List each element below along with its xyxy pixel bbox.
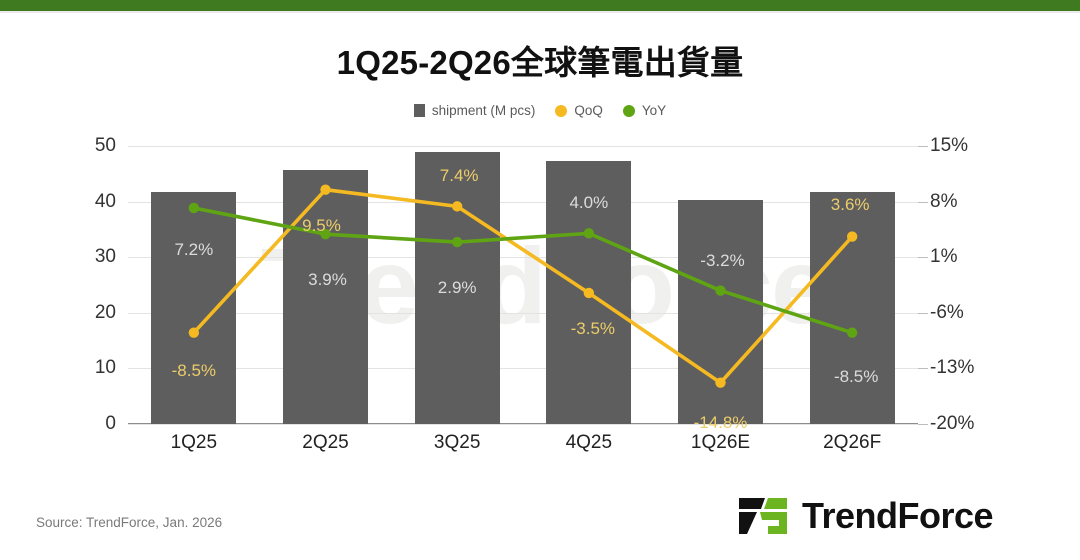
- data-label-yoy-2Q25: 3.9%: [308, 270, 347, 290]
- y-tick-left: 40: [64, 191, 116, 213]
- legend-item-yoy: YoY: [623, 103, 666, 118]
- marker-yoy-1Q26E: [715, 285, 725, 295]
- x-tick-2Q25: 2Q25: [302, 432, 348, 454]
- y-tick-left: 20: [64, 302, 116, 324]
- x-tick-2Q26F: 2Q26F: [823, 432, 881, 454]
- top-green-band: [0, 0, 1080, 11]
- y-tick-right: -13%: [930, 357, 1020, 379]
- y-tick-left: 10: [64, 357, 116, 379]
- page-title: 1Q25-2Q26全球筆電出貨量: [0, 36, 1080, 84]
- y-tick-left: 30: [64, 246, 116, 268]
- marker-qoq-2Q25: [320, 184, 330, 194]
- y-axis-right: -20%-13%-6%1%8%15%: [930, 146, 1020, 424]
- data-label-qoq-3Q25: 7.4%: [440, 166, 479, 186]
- y-tick-right: 1%: [930, 246, 1020, 268]
- data-label-qoq-2Q25: 9.5%: [302, 216, 341, 236]
- gridline: [128, 424, 918, 425]
- marker-yoy-3Q25: [452, 237, 462, 247]
- top-band-shadow: [0, 11, 1080, 13]
- marker-qoq-4Q25: [584, 288, 594, 298]
- y-axis-left: 01020304050: [64, 146, 116, 424]
- x-axis-labels: 1Q252Q253Q254Q251Q26E2Q26F: [128, 432, 918, 462]
- data-label-yoy-1Q25: 7.2%: [174, 240, 213, 260]
- chart-legend: shipment (M pcs) QoQ YoY: [0, 103, 1080, 118]
- trendforce-mark-icon: [735, 494, 791, 538]
- marker-yoy-1Q25: [189, 203, 199, 213]
- line-yoy: [194, 208, 852, 333]
- marker-qoq-3Q25: [452, 201, 462, 211]
- x-tick-1Q25: 1Q25: [171, 432, 217, 454]
- marker-yoy-4Q25: [584, 228, 594, 238]
- data-label-qoq-1Q25: -8.5%: [172, 361, 216, 381]
- data-label-yoy-4Q25: 4.0%: [569, 193, 608, 213]
- x-tick-4Q25: 4Q25: [566, 432, 612, 454]
- y-tick-right: -20%: [930, 413, 1020, 435]
- data-label-yoy-3Q25: 2.9%: [438, 278, 477, 298]
- trendforce-wordmark: TrendForce: [802, 495, 993, 537]
- chart-page: 1Q25-2Q26全球筆電出貨量 shipment (M pcs) QoQ Yo…: [0, 0, 1080, 560]
- data-label-qoq-2Q26F: 3.6%: [831, 195, 870, 215]
- plot-area: -8.5%9.5%7.4%-3.5%-14.8%3.6%7.2%3.9%2.9%…: [128, 146, 918, 424]
- y-tick-right: -6%: [930, 302, 1020, 324]
- y-tick-right: 8%: [930, 191, 1020, 213]
- line-overlay: [128, 146, 918, 424]
- x-tick-1Q26E: 1Q26E: [691, 432, 750, 454]
- trendforce-logo: TrendForce: [735, 494, 993, 538]
- source-note: Source: TrendForce, Jan. 2026: [36, 515, 222, 530]
- y-tick-left: 0: [64, 413, 116, 435]
- legend-swatch-yoy-icon: [623, 105, 635, 117]
- data-label-yoy-2Q26F: -8.5%: [834, 367, 878, 387]
- legend-item-qoq: QoQ: [555, 103, 603, 118]
- y-tick-right: 15%: [930, 135, 1020, 157]
- legend-swatch-bar-icon: [414, 104, 425, 117]
- x-tick-3Q25: 3Q25: [434, 432, 480, 454]
- line-qoq: [194, 190, 852, 383]
- legend-item-shipment: shipment (M pcs): [414, 103, 536, 118]
- data-label-yoy-1Q26E: -3.2%: [700, 251, 744, 271]
- marker-qoq-1Q25: [189, 327, 199, 337]
- marker-yoy-2Q26F: [847, 327, 857, 337]
- marker-qoq-1Q26E: [715, 377, 725, 387]
- legend-label-qoq: QoQ: [574, 103, 603, 118]
- legend-label-shipment: shipment (M pcs): [432, 103, 536, 118]
- legend-label-yoy: YoY: [642, 103, 666, 118]
- data-label-qoq-4Q25: -3.5%: [571, 319, 615, 339]
- marker-qoq-2Q26F: [847, 231, 857, 241]
- legend-swatch-qoq-icon: [555, 105, 567, 117]
- data-label-qoq-1Q26E: -14.8%: [694, 413, 748, 433]
- y-tick-left: 50: [64, 135, 116, 157]
